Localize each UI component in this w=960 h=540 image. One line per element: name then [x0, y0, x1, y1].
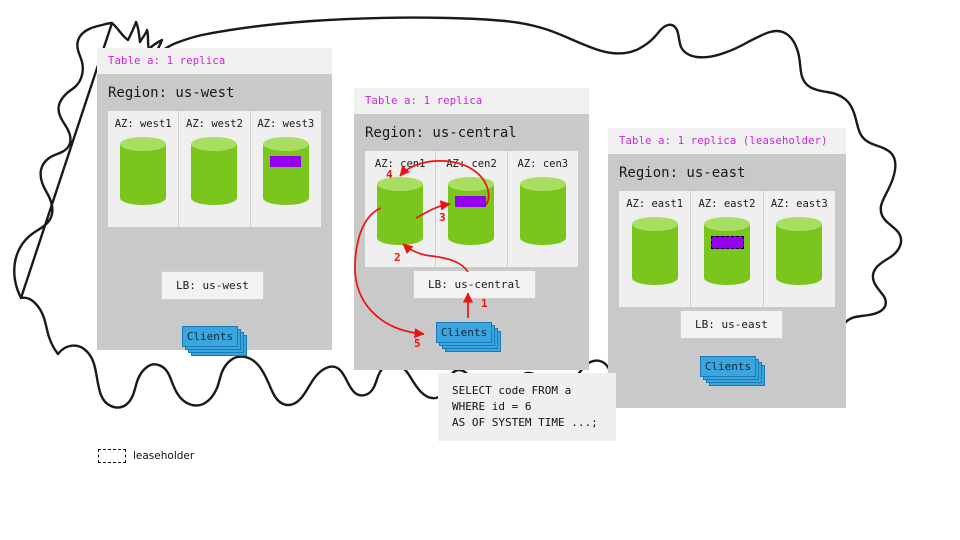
az-label: AZ: east2 [699, 198, 756, 210]
region-replica-header: Table a: 1 replica [97, 48, 332, 74]
clients-us-central[interactable]: Clients [436, 322, 499, 350]
flow-step-number-3: 3 [439, 211, 446, 224]
dashed-rectangle-icon [98, 449, 126, 463]
flow-step-number-4: 4 [386, 168, 393, 181]
clients-label: Clients [436, 322, 492, 343]
region-title: Region: us-central [354, 114, 589, 151]
az-label: AZ: cen3 [518, 158, 569, 170]
az-west1[interactable]: AZ: west1 [108, 111, 179, 227]
replica-cylinder [704, 217, 750, 285]
replica-cylinder [120, 137, 166, 205]
az-label: AZ: east1 [626, 198, 683, 210]
replica-cylinder [263, 137, 309, 205]
load-balancer-us-east[interactable]: LB: us-east [680, 310, 783, 339]
replica-cylinder [191, 137, 237, 205]
az-label: AZ: west3 [257, 118, 314, 130]
diagram-canvas: Table a: 1 replica Region: us-west AZ: w… [0, 0, 960, 540]
range-block-east2-leaseholder [711, 236, 744, 249]
clients-label: Clients [182, 326, 238, 347]
region-panel-us-west: Table a: 1 replica Region: us-west AZ: w… [97, 48, 332, 350]
replica-cylinder [632, 217, 678, 285]
region-panel-us-east: Table a: 1 replica (leaseholder) Region:… [608, 128, 846, 408]
region-replica-header: Table a: 1 replica (leaseholder) [608, 128, 846, 154]
flow-step-number-2: 2 [394, 251, 401, 264]
az-label: AZ: cen1 [375, 158, 426, 170]
az-west3[interactable]: AZ: west3 [251, 111, 321, 227]
flow-step-number-5: 5 [414, 337, 421, 350]
az-west2[interactable]: AZ: west2 [179, 111, 250, 227]
az-row: AZ: east1 AZ: east2 AZ: east3 [619, 191, 835, 307]
sql-query-box: SELECT code FROM a WHERE id = 6 AS OF SY… [438, 373, 616, 441]
range-block-cen2 [455, 196, 486, 207]
replica-cylinder [377, 177, 423, 245]
az-east1[interactable]: AZ: east1 [619, 191, 691, 307]
clients-label: Clients [700, 356, 756, 377]
az-row: AZ: cen1 AZ: cen2 AZ: cen3 [365, 151, 578, 267]
clients-us-west[interactable]: Clients [182, 326, 245, 354]
az-cen1[interactable]: AZ: cen1 [365, 151, 436, 267]
az-label: AZ: cen2 [446, 158, 497, 170]
load-balancer-us-central[interactable]: LB: us-central [413, 270, 536, 299]
range-block-west3 [270, 156, 301, 167]
legend-leaseholder: leaseholder [98, 449, 194, 463]
az-label: AZ: west1 [115, 118, 172, 130]
flow-step-number-1: 1 [481, 297, 488, 310]
region-title: Region: us-west [97, 74, 332, 111]
region-replica-header: Table a: 1 replica [354, 88, 589, 114]
az-label: AZ: east3 [771, 198, 828, 210]
clients-us-east[interactable]: Clients [700, 356, 763, 384]
az-east3[interactable]: AZ: east3 [764, 191, 835, 307]
legend-label: leaseholder [133, 450, 194, 462]
az-east2[interactable]: AZ: east2 [691, 191, 763, 307]
az-row: AZ: west1 AZ: west2 AZ: west3 [108, 111, 321, 227]
replica-cylinder [520, 177, 566, 245]
region-panel-us-central: Table a: 1 replica Region: us-central AZ… [354, 88, 589, 370]
az-label: AZ: west2 [186, 118, 243, 130]
replica-cylinder [448, 177, 494, 245]
load-balancer-us-west[interactable]: LB: us-west [161, 271, 264, 300]
replica-cylinder [776, 217, 822, 285]
region-title: Region: us-east [608, 154, 846, 191]
az-cen3[interactable]: AZ: cen3 [508, 151, 578, 267]
az-cen2[interactable]: AZ: cen2 [436, 151, 507, 267]
